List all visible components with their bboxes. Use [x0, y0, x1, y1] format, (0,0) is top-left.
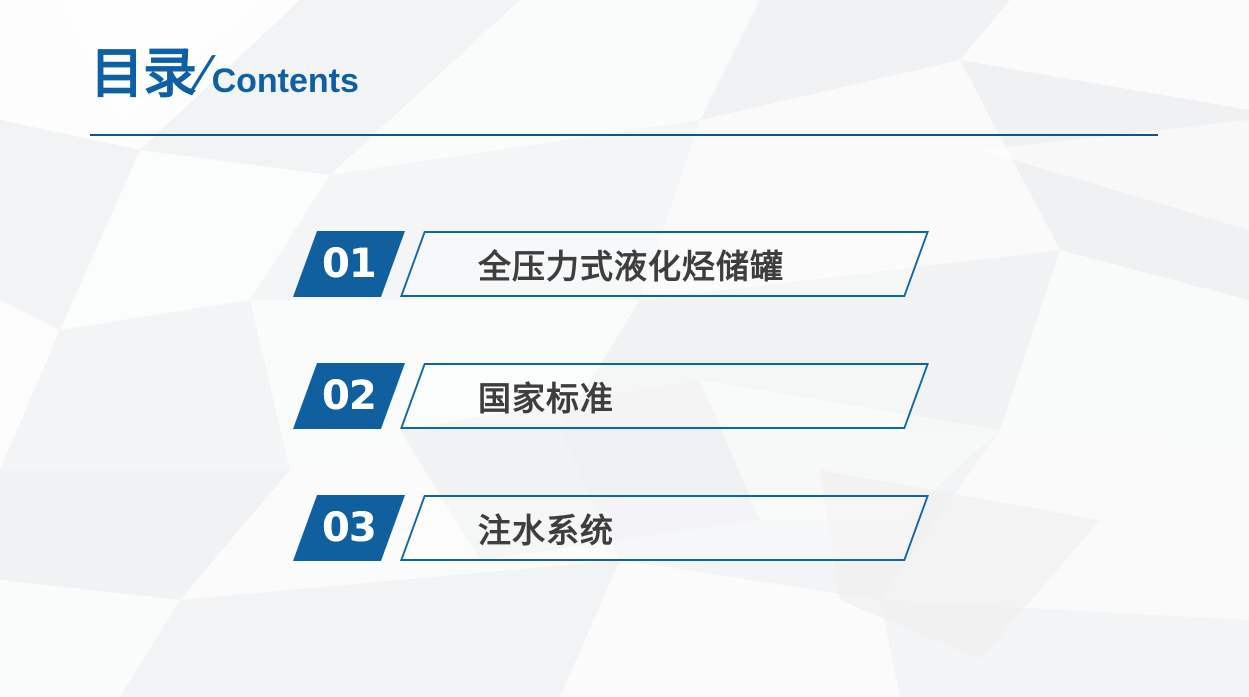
- contents-item-03-label: 注水系统: [478, 495, 614, 561]
- contents-item-02[interactable]: 02 国家标准: [0, 363, 1249, 429]
- title-divider-line: [90, 134, 1158, 136]
- contents-item-01-label: 全压力式液化烃储罐: [478, 231, 784, 297]
- contents-item-02-number: 02: [322, 376, 376, 416]
- contents-item-01[interactable]: 01 全压力式液化烃储罐: [0, 231, 1249, 297]
- contents-item-02-label: 国家标准: [478, 363, 614, 429]
- contents-item-03-number: 03: [322, 508, 376, 548]
- contents-item-03-number-badge: 03: [293, 495, 405, 561]
- contents-item-01-number-badge: 01: [293, 231, 405, 297]
- contents-item-03[interactable]: 03 注水系统: [0, 495, 1249, 561]
- page-title: 目录 / Contents: [90, 46, 359, 102]
- page-title-en: Contents: [212, 64, 359, 98]
- contents-item-02-number-badge: 02: [293, 363, 405, 429]
- page-title-cn: 目录: [90, 47, 196, 101]
- contents-item-01-number: 01: [322, 244, 376, 284]
